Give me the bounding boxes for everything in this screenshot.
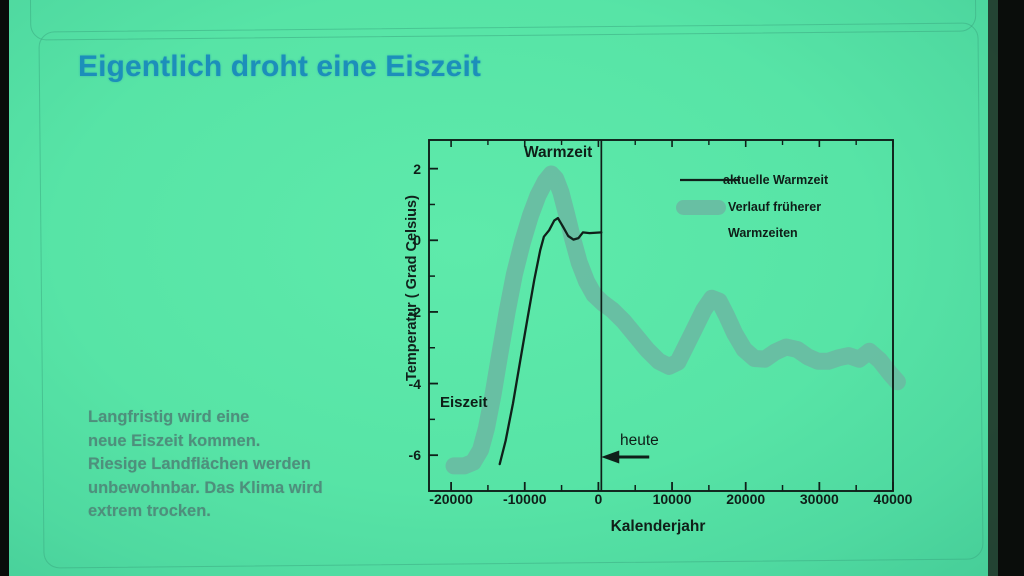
arrow-left-icon [601,450,649,463]
body-line-5: extrem trocken. [88,500,388,524]
screen-bezel-right-inner [988,0,998,576]
x-tick-label: 20000 [726,491,765,507]
projection-surface: Eigentlich droht eine Eiszeit Langfristi… [8,0,998,576]
x-tick-label: 0 [594,491,602,507]
annotation-eiszeit: Eiszeit [440,394,488,411]
y-tick-label: -4 [387,376,421,392]
x-tick-label: 40000 [874,491,913,507]
legend-label-warmzeiten: Warmzeiten [728,226,798,240]
x-tick-label: 30000 [800,491,839,507]
x-tick-label: -10000 [503,491,547,507]
y-tick-label: -2 [387,304,421,320]
slide-body-text: Langfristig wird eine neue Eiszeit komme… [88,406,388,524]
y-tick-label: -6 [387,447,421,463]
legend-label-aktuelle-warmzeit: aktuelle Warmzeit [723,173,828,187]
legend-label-verlauf-frueherer: Verlauf früherer [728,200,821,214]
body-line-1: Langfristig wird eine [88,406,388,430]
x-axis-label: Kalenderjahr [558,518,758,536]
annotation-heute: heute [620,432,659,450]
chart-canvas [368,130,938,550]
body-line-4: unbewohnbar. Das Klima wird [88,477,388,501]
screen-bezel-left [0,0,9,576]
temperature-chart: Temperatur ( Grad Celsius) Kalenderjahr … [368,130,938,550]
x-tick-label: 10000 [653,491,692,507]
y-tick-label: 0 [387,232,421,248]
projector-screenshot: Eigentlich droht eine Eiszeit Langfristi… [0,0,1024,576]
screen-bezel-right [998,0,1024,576]
body-line-2: neue Eiszeit kommen. [88,430,388,454]
x-tick-label: -20000 [429,491,473,507]
y-tick-label: 2 [387,161,421,177]
annotation-warmzeit: Warmzeit [524,144,592,162]
page-title: Eigentlich droht eine Eiszeit [78,50,481,84]
body-line-3: Riesige Landflächen werden [88,453,388,477]
